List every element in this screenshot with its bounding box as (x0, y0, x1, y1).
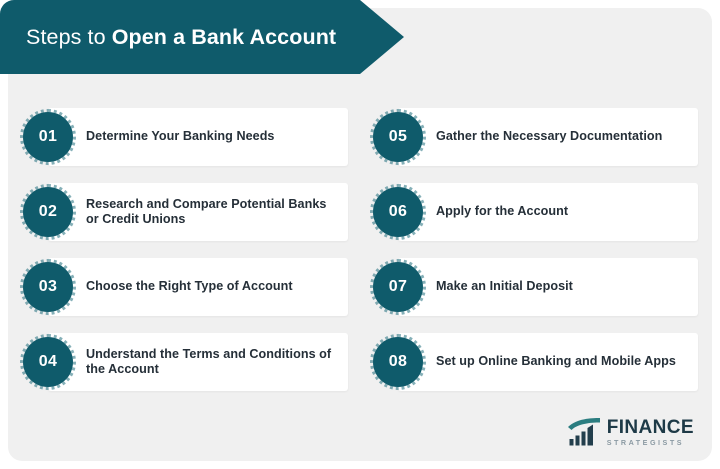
step-label: Research and Compare Potential Banks or … (86, 197, 348, 228)
step-number-badge: 05 (373, 112, 423, 162)
page-title-bold: Open a Bank Account (112, 25, 337, 50)
step-label: Set up Online Banking and Mobile Apps (436, 354, 686, 370)
step-item-03: 03 Choose the Right Type of Account (22, 258, 348, 316)
step-number: 05 (389, 128, 407, 146)
step-number-badge: 07 (373, 262, 423, 312)
step-number: 03 (39, 278, 57, 296)
step-label: Apply for the Account (436, 204, 578, 220)
step-number-badge: 02 (23, 187, 73, 237)
step-item-06: 06 Apply for the Account (372, 183, 698, 241)
step-label: Understand the Terms and Conditions of t… (86, 347, 348, 378)
infographic-canvas: Steps to Open a Bank Account 01 Determin… (0, 0, 720, 469)
page-title: Steps to Open a Bank Account (26, 0, 336, 74)
step-number-badge: 04 (23, 337, 73, 387)
step-number: 02 (39, 203, 57, 221)
step-number: 04 (39, 353, 57, 371)
step-label: Choose the Right Type of Account (86, 279, 303, 295)
step-number: 06 (389, 203, 407, 221)
step-number-badge: 03 (23, 262, 73, 312)
step-item-08: 08 Set up Online Banking and Mobile Apps (372, 333, 698, 391)
logo-name: FINANCE (607, 418, 694, 437)
finance-strategists-logo-icon (567, 417, 601, 447)
step-item-05: 05 Gather the Necessary Documentation (372, 108, 698, 166)
step-item-07: 07 Make an Initial Deposit (372, 258, 698, 316)
step-number-badge: 06 (373, 187, 423, 237)
header-banner-wrap: Steps to Open a Bank Account (0, 0, 404, 74)
steps-grid: 01 Determine Your Banking Needs 05 Gathe… (22, 108, 698, 391)
logo-subtitle: STRATEGISTS (607, 439, 694, 446)
step-item-02: 02 Research and Compare Potential Banks … (22, 183, 348, 241)
step-label: Gather the Necessary Documentation (436, 129, 672, 145)
step-label: Determine Your Banking Needs (86, 129, 285, 145)
brand-logo: FINANCE STRATEGISTS (567, 417, 694, 447)
step-item-01: 01 Determine Your Banking Needs (22, 108, 348, 166)
step-item-04: 04 Understand the Terms and Conditions o… (22, 333, 348, 391)
step-number: 08 (389, 353, 407, 371)
page-title-light: Steps to (26, 25, 106, 50)
step-number: 07 (389, 278, 407, 296)
logo-wordmark: FINANCE STRATEGISTS (607, 418, 694, 446)
step-number-badge: 08 (373, 337, 423, 387)
step-number: 01 (39, 128, 57, 146)
step-label: Make an Initial Deposit (436, 279, 583, 295)
step-number-badge: 01 (23, 112, 73, 162)
